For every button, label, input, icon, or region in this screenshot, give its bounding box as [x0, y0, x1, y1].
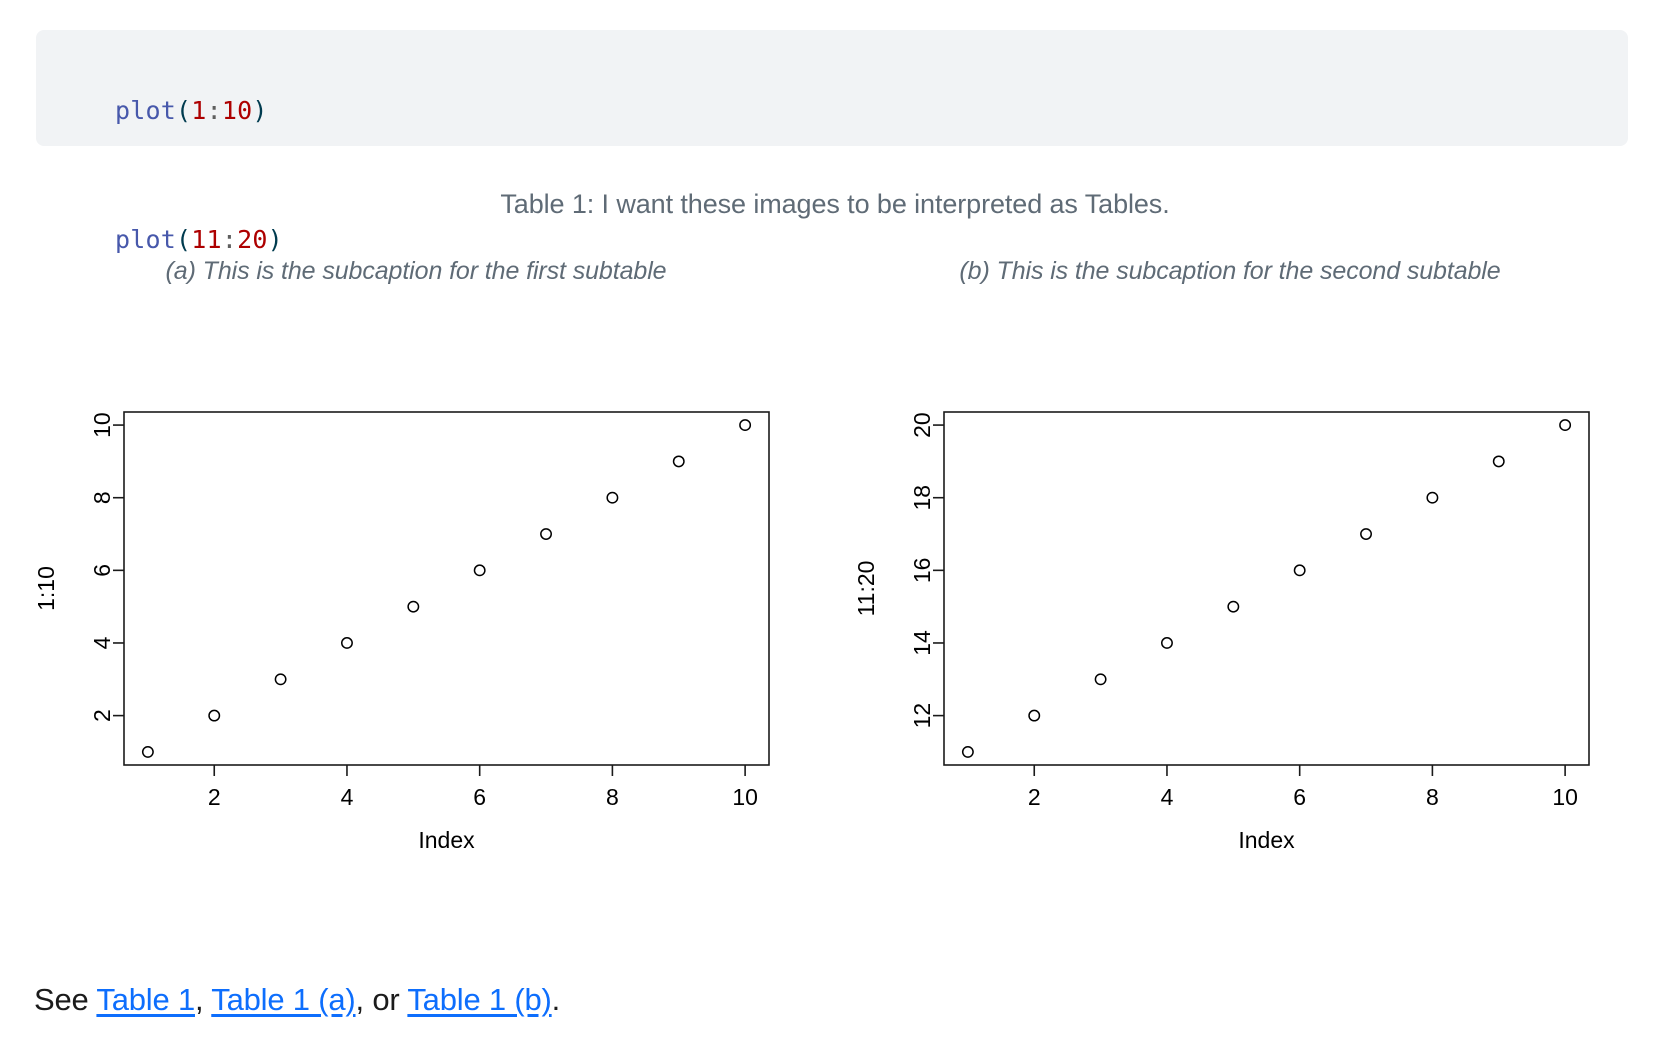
x-axis-tick-label: 2	[208, 784, 221, 810]
figure-subtable-b: 246810121416182011:20Index	[840, 360, 1630, 860]
data-point	[1095, 674, 1105, 684]
see-prefix: See	[34, 982, 96, 1017]
see-separator-2: , or	[356, 982, 408, 1017]
data-point	[1560, 420, 1570, 430]
y-axis-tick-label: 2	[89, 709, 115, 722]
subcaption-b: (b) This is the subcaption for the secon…	[830, 257, 1630, 286]
scatter-plot-a: 2468102468101:10Index	[20, 360, 810, 860]
code-token-paren-open: (	[176, 225, 191, 254]
data-point	[275, 674, 285, 684]
data-point	[1029, 710, 1039, 720]
y-axis-tick-label: 18	[909, 485, 935, 511]
code-token-colon: :	[207, 96, 222, 125]
subcaption-a: (a) This is the subcaption for the first…	[36, 257, 796, 286]
y-axis-tick-label: 20	[909, 412, 935, 438]
y-axis-title: 11:20	[853, 561, 879, 617]
y-axis-tick-label: 4	[89, 636, 115, 649]
x-axis-tick-label: 6	[1293, 784, 1306, 810]
link-table-1-b[interactable]: Table 1 (b)	[407, 982, 551, 1017]
y-axis-tick-label: 12	[909, 703, 935, 729]
data-point	[607, 493, 617, 503]
see-suffix: .	[552, 982, 560, 1017]
table-caption: Table 1: I want these images to be inter…	[0, 189, 1670, 220]
see-separator-1: ,	[195, 982, 211, 1017]
data-point	[1294, 565, 1304, 575]
cross-reference-sentence: See Table 1, Table 1 (a), or Table 1 (b)…	[34, 982, 560, 1018]
data-point	[1162, 638, 1172, 648]
x-axis-title: Index	[418, 827, 475, 853]
code-token-function: plot	[115, 225, 176, 254]
code-token-number-end: 20	[237, 225, 268, 254]
code-line-1: plot(1:10)	[54, 46, 1628, 175]
scatter-plot-b: 246810121416182011:20Index	[840, 360, 1630, 860]
code-token-number-start: 11	[191, 225, 222, 254]
y-axis-title: 1:10	[33, 566, 59, 611]
data-point	[1361, 529, 1371, 539]
data-point	[408, 601, 418, 611]
x-axis-tick-label: 2	[1028, 784, 1041, 810]
data-point	[209, 710, 219, 720]
data-point	[674, 456, 684, 466]
x-axis-tick-label: 4	[1161, 784, 1174, 810]
figure-subtable-a: 2468102468101:10Index	[20, 360, 810, 860]
code-token-colon: :	[222, 225, 237, 254]
code-token-paren-close: )	[268, 225, 283, 254]
code-token-number-end: 10	[222, 96, 253, 125]
code-token-paren-close: )	[252, 96, 267, 125]
data-point	[474, 565, 484, 575]
x-axis-tick-label: 8	[606, 784, 619, 810]
code-block: plot(1:10) plot(11:20)	[36, 30, 1628, 146]
link-table-1[interactable]: Table 1	[96, 982, 195, 1017]
y-axis-tick-label: 10	[89, 412, 115, 438]
y-axis-tick-label: 8	[89, 491, 115, 504]
link-table-1-a[interactable]: Table 1 (a)	[211, 982, 355, 1017]
x-axis-title: Index	[1238, 827, 1295, 853]
y-axis-tick-label: 14	[909, 630, 935, 656]
data-point	[1427, 493, 1437, 503]
data-point	[541, 529, 551, 539]
plot-frame	[124, 412, 769, 765]
data-point	[1494, 456, 1504, 466]
code-token-paren-open: (	[176, 96, 191, 125]
x-axis-tick-label: 6	[473, 784, 486, 810]
data-point	[963, 747, 973, 757]
plot-frame	[944, 412, 1589, 765]
x-axis-tick-label: 4	[341, 784, 354, 810]
data-point	[740, 420, 750, 430]
data-point	[342, 638, 352, 648]
data-point	[143, 747, 153, 757]
y-axis-tick-label: 16	[909, 558, 935, 584]
x-axis-tick-label: 8	[1426, 784, 1439, 810]
code-token-number-start: 1	[191, 96, 206, 125]
x-axis-tick-label: 10	[732, 784, 758, 810]
code-token-function: plot	[115, 96, 176, 125]
data-point	[1228, 601, 1238, 611]
x-axis-tick-label: 10	[1552, 784, 1578, 810]
y-axis-tick-label: 6	[89, 564, 115, 577]
